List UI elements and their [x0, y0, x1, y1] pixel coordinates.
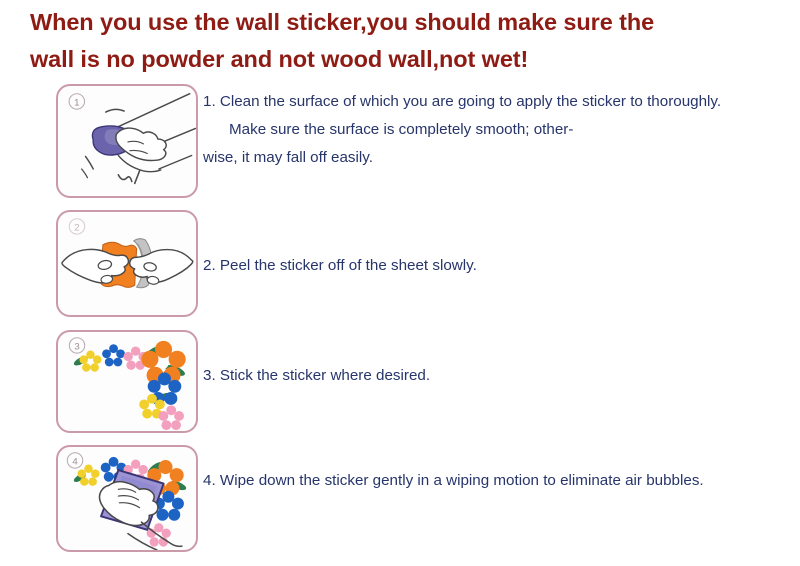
stick-sticker-illustration: 3	[56, 330, 198, 433]
step-line: 3. Stick the sticker where desired.	[203, 367, 430, 384]
step-line: eliminate air bubbles.	[560, 472, 704, 489]
step-text: 1. Clean the surface of which you are go…	[203, 88, 763, 172]
step-line: 4. Wipe down the sticker gently in a wip…	[203, 472, 556, 489]
step-line: Make sure the surface is completely smoo…	[203, 116, 763, 144]
heading-line-1: When you use the wall sticker,you should…	[30, 4, 730, 41]
step-text: 2. Peel the sticker off of the sheet slo…	[203, 252, 763, 280]
clean-surface-illustration: 1	[56, 84, 198, 198]
step-line: the sticker to thoroughly.	[557, 93, 721, 110]
step-row: 1 1. C	[0, 84, 800, 198]
svg-text:2: 2	[74, 222, 79, 233]
step-text: 3. Stick the sticker where desired.	[203, 362, 763, 390]
step-text: 4. Wipe down the sticker gently in a wip…	[203, 467, 763, 495]
heading-line-2: wall is no powder and not wood wall,not …	[30, 41, 730, 78]
step-line: 2. Peel the sticker off of the sheet slo…	[203, 257, 477, 274]
wipe-sticker-illustration: 4	[56, 445, 198, 552]
peel-sticker-illustration: 2	[56, 210, 198, 317]
step-line: wise, it may fall off easily.	[203, 149, 373, 166]
step-row: 2 2. Peel the sticker off of the sheet s…	[0, 210, 800, 317]
step-line: 1. Clean the surface of which you are go…	[203, 93, 553, 110]
step-row: 3	[0, 330, 800, 433]
svg-text:4: 4	[72, 456, 78, 467]
svg-text:3: 3	[74, 341, 79, 352]
instruction-heading: When you use the wall sticker,you should…	[30, 4, 730, 78]
step-row: 4	[0, 445, 800, 552]
svg-text:1: 1	[74, 97, 79, 108]
